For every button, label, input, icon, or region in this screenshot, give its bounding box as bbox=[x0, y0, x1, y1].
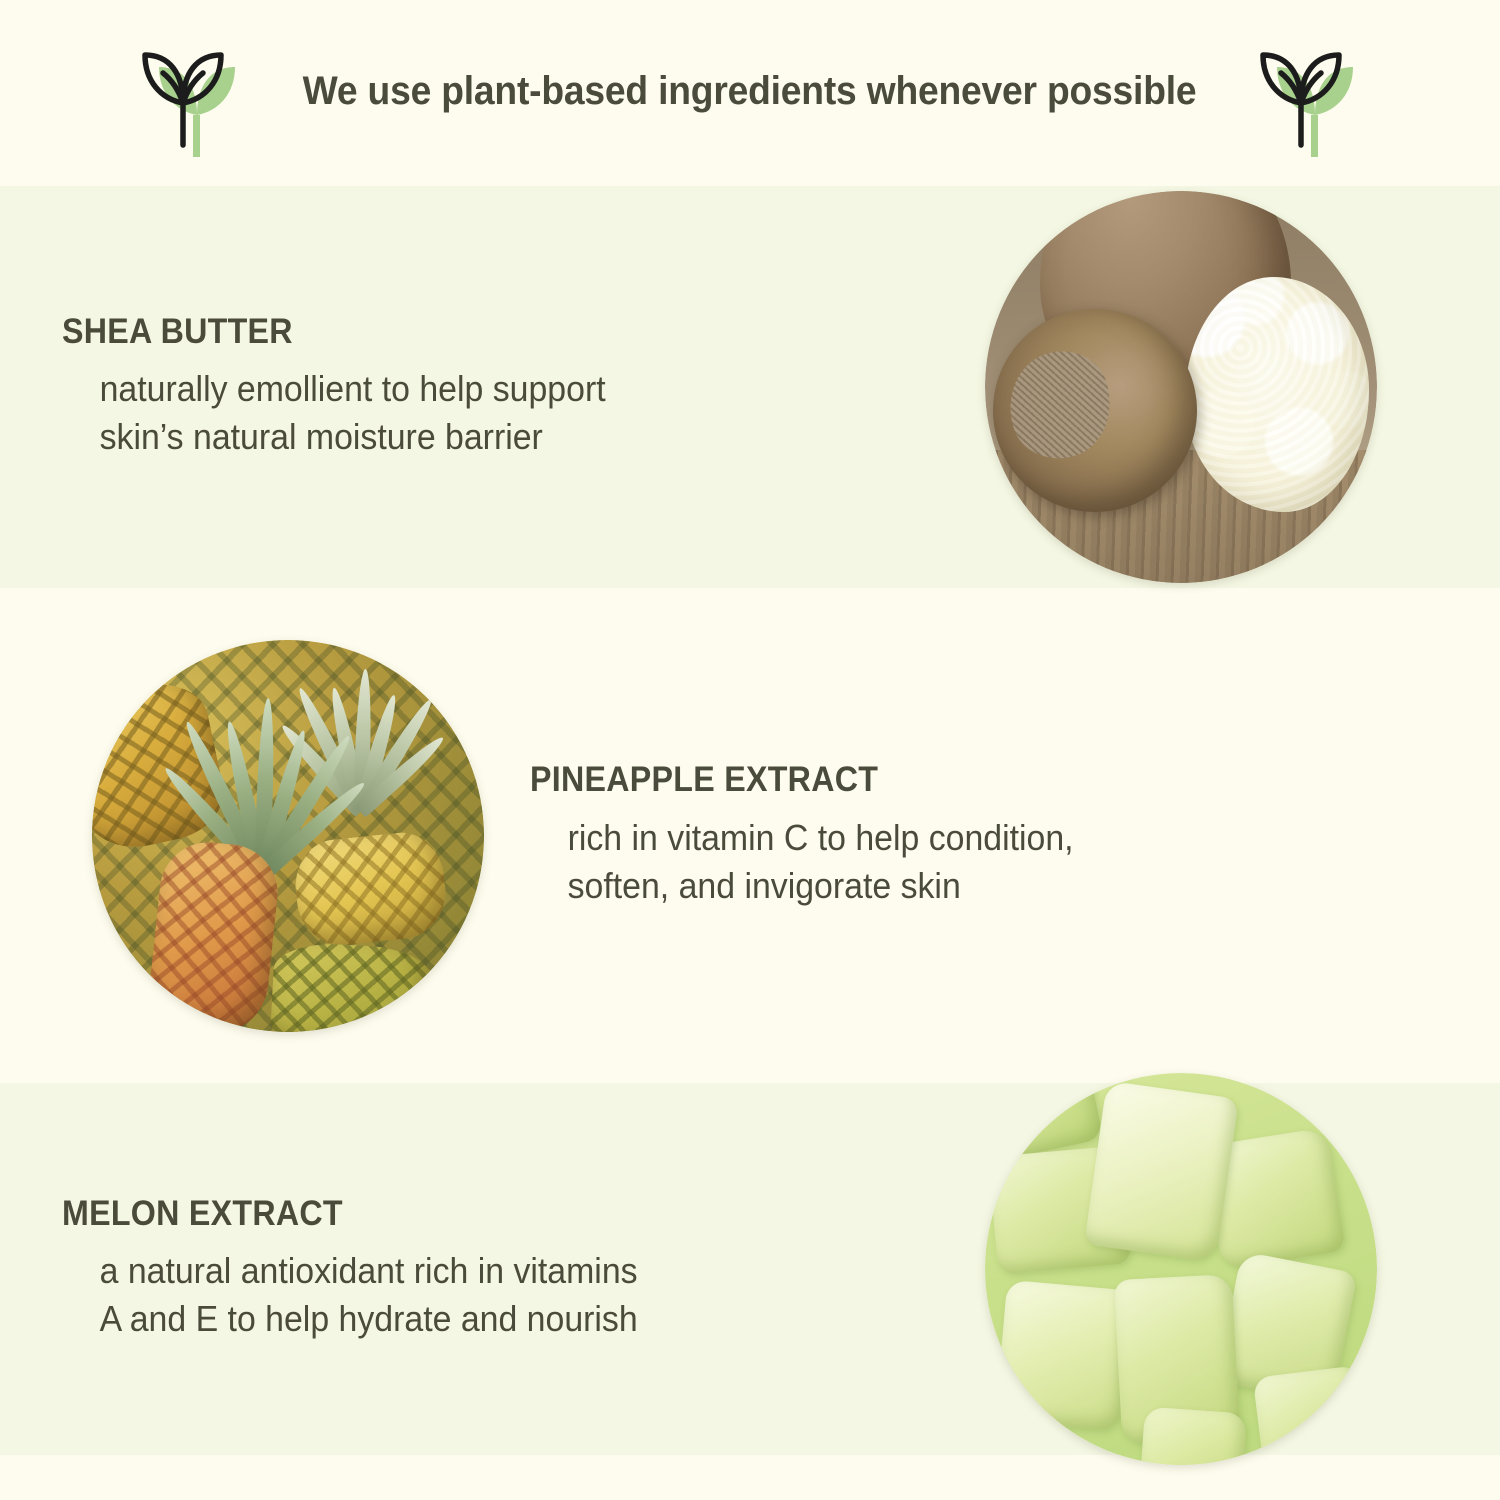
ingredient-title-melon-extract: MELON EXTRACT bbox=[62, 1195, 872, 1234]
ingredient-description-pineapple-extract: rich in vitamin C to help condition, sof… bbox=[530, 814, 1329, 910]
ingredient-title-pineapple-extract: PINEAPPLE EXTRACT bbox=[530, 761, 1312, 800]
ingredient-row-shea-butter: SHEA BUTTER naturally emollient to help … bbox=[0, 186, 1500, 588]
pineapple-extract-text-block: PINEAPPLE EXTRACT rich in vitamin C to h… bbox=[530, 761, 1380, 909]
description-line: A and E to help hydrate and nourish bbox=[100, 1295, 890, 1343]
description-line: naturally emollient to help support bbox=[100, 365, 890, 413]
honeydew-melon-chunks-photo bbox=[985, 1073, 1377, 1465]
ingredient-row-melon-extract: MELON EXTRACT a natural antioxidant rich… bbox=[0, 1083, 1500, 1455]
page-title: We use plant-based ingredients whenever … bbox=[303, 71, 1197, 115]
header: We use plant-based ingredients whenever … bbox=[0, 0, 1500, 186]
sprout-leaf-icon bbox=[127, 29, 255, 157]
ingredient-description-melon-extract: a natural antioxidant rich in vitamins A… bbox=[62, 1247, 889, 1343]
ingredient-row-pineapple-extract: PINEAPPLE EXTRACT rich in vitamin C to h… bbox=[0, 588, 1500, 1083]
description-line: rich in vitamin C to help condition, bbox=[568, 814, 1329, 862]
ingredients-infographic: We use plant-based ingredients whenever … bbox=[0, 0, 1500, 1500]
shea-butter-text-block: SHEA BUTTER naturally emollient to help … bbox=[62, 313, 942, 461]
sprout-leaf-icon bbox=[1245, 29, 1373, 157]
description-line: soften, and invigorate skin bbox=[568, 862, 1329, 910]
melon-extract-text-block: MELON EXTRACT a natural antioxidant rich… bbox=[62, 1195, 942, 1343]
shea-nuts-and-butter-photo bbox=[985, 191, 1377, 583]
pineapples-photo bbox=[92, 640, 484, 1032]
description-line: a natural antioxidant rich in vitamins bbox=[100, 1247, 890, 1295]
ingredient-title-shea-butter: SHEA BUTTER bbox=[62, 313, 872, 352]
ingredient-description-shea-butter: naturally emollient to help support skin… bbox=[62, 365, 889, 461]
description-line: skin’s natural moisture barrier bbox=[100, 413, 890, 461]
